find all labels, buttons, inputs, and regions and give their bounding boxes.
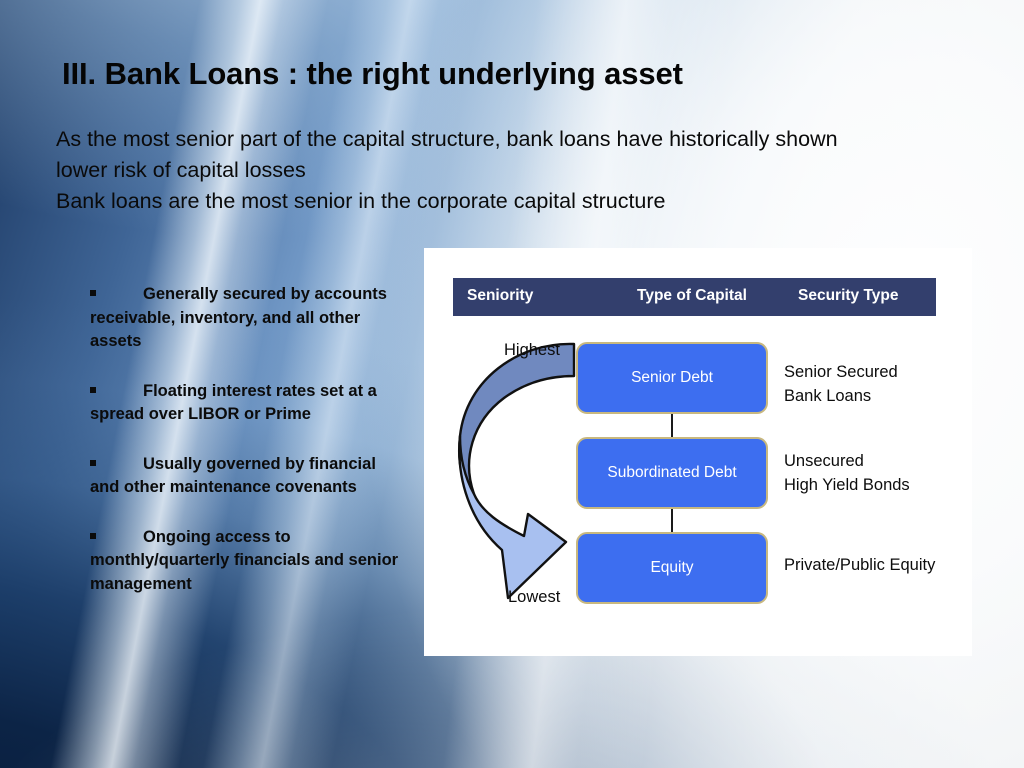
capital-box-senior-debt[interactable]: Senior Debt (576, 342, 768, 414)
bullet-item: Usually governed by financial and other … (90, 453, 400, 500)
column-header-seniority: Seniority (467, 287, 533, 305)
square-bullet-icon (90, 460, 96, 466)
bullet-text: Floating interest rates set at a spread … (90, 382, 377, 424)
capital-box-equity[interactable]: Equity (576, 532, 768, 604)
intro-line-1: As the most senior part of the capital s… (56, 124, 1001, 155)
security-line: Senior Secured (784, 360, 898, 384)
bullet-item: Floating interest rates set at a spread … (90, 380, 400, 427)
slide: III. Bank Loans : the right underlying a… (0, 0, 1024, 768)
security-line: Private/Public Equity (784, 553, 935, 577)
square-bullet-icon (90, 290, 96, 296)
seniority-label-lowest: Lowest (508, 588, 560, 607)
security-type-senior-debt: Senior Secured Bank Loans (784, 360, 898, 408)
capital-structure-diagram: Seniority Type of Capital Security Type … (424, 248, 972, 656)
capital-box-subordinated-debt[interactable]: Subordinated Debt (576, 437, 768, 509)
column-header-security-type: Security Type (798, 287, 899, 305)
bullet-item: Ongoing access to monthly/quarterly fina… (90, 526, 400, 597)
curved-down-arrow-icon (446, 336, 578, 606)
column-header-type-of-capital: Type of Capital (637, 287, 747, 305)
security-line: Bank Loans (784, 384, 898, 408)
slide-title: III. Bank Loans : the right underlying a… (62, 56, 942, 92)
intro-line-3: Bank loans are the most senior in the co… (56, 186, 1001, 217)
diagram-header-bar: Seniority Type of Capital Security Type (453, 278, 936, 316)
security-type-equity: Private/Public Equity (784, 553, 935, 577)
slide-intro-paragraph: As the most senior part of the capital s… (56, 124, 1001, 217)
square-bullet-icon (90, 387, 96, 393)
connector-line (671, 509, 673, 532)
bullet-list: Generally secured by accounts receivable… (90, 283, 400, 596)
security-line: Unsecured (784, 449, 910, 473)
security-type-subordinated-debt: Unsecured High Yield Bonds (784, 449, 910, 497)
intro-line-2: lower risk of capital losses (56, 155, 1001, 186)
bullet-text: Generally secured by accounts receivable… (90, 285, 387, 350)
security-line: High Yield Bonds (784, 473, 910, 497)
connector-line (671, 414, 673, 437)
bullet-text: Usually governed by financial and other … (90, 455, 376, 497)
bullet-text: Ongoing access to monthly/quarterly fina… (90, 528, 398, 593)
seniority-label-highest: Highest (504, 341, 560, 360)
bullet-item: Generally secured by accounts receivable… (90, 283, 400, 354)
square-bullet-icon (90, 533, 96, 539)
